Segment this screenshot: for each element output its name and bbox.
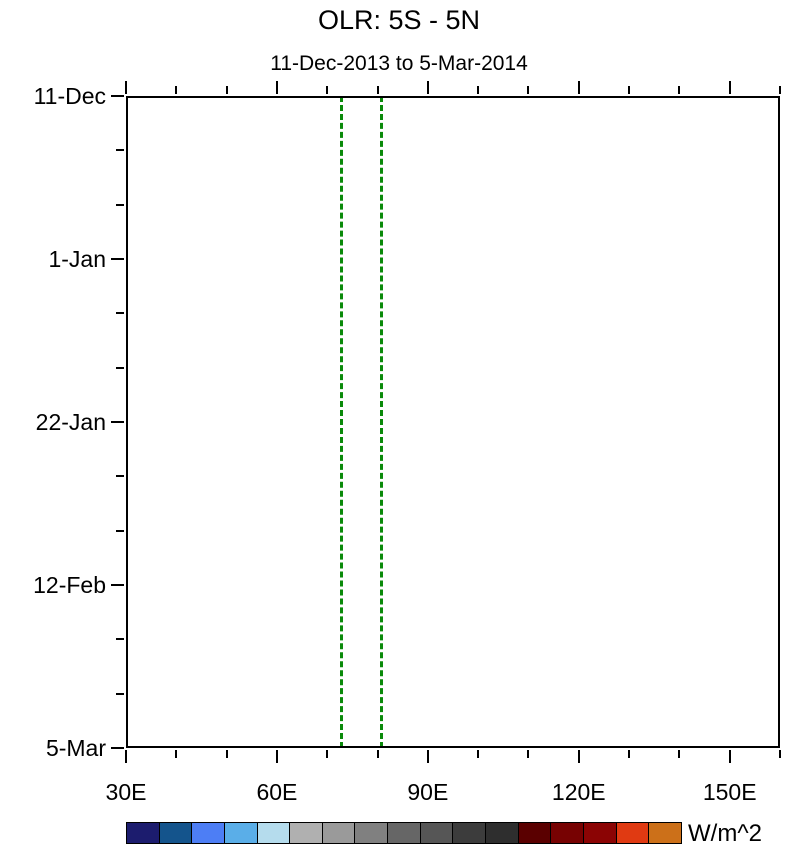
y-tick-14 (116, 204, 124, 206)
colorbar-segment-4 (258, 823, 291, 843)
x-axis-label-90: 90E (407, 778, 448, 806)
colorbar-segment-13 (551, 823, 584, 843)
colorbar-segment-3 (225, 823, 258, 843)
colorbar-segment-2 (192, 823, 225, 843)
colorbar-segment-12 (519, 823, 552, 843)
x-tick-40 (175, 750, 177, 758)
x-tick-top-40 (175, 86, 177, 94)
annotation-vline-2 (380, 96, 383, 748)
x-tick-130 (628, 750, 630, 758)
y-tick-28 (116, 312, 124, 314)
colorbar-segment-15 (617, 823, 650, 843)
x-tick-top-100 (477, 86, 479, 94)
colorbar-segment-14 (584, 823, 617, 843)
x-tick-top-80 (377, 86, 379, 94)
x-tick-140 (678, 750, 680, 758)
colorbar[interactable] (126, 822, 682, 844)
x-tick-70 (326, 750, 328, 758)
x-axis-label-150: 150E (703, 778, 757, 806)
y-axis-label-11-Dec: 11-Dec (0, 82, 106, 110)
colorbar-segment-5 (290, 823, 323, 843)
x-tick-top-30 (125, 81, 127, 94)
y-tick-70 (116, 638, 124, 640)
x-tick-80 (377, 750, 379, 758)
x-tick-top-120 (578, 81, 580, 94)
colorbar-segment-16 (649, 823, 681, 843)
x-tick-60 (276, 750, 278, 763)
x-tick-top-50 (226, 86, 228, 94)
x-tick-top-70 (326, 86, 328, 94)
colorbar-segment-10 (453, 823, 486, 843)
x-tick-30 (125, 750, 127, 763)
colorbar-segment-8 (388, 823, 421, 843)
x-tick-top-60 (276, 81, 278, 94)
y-tick-0 (111, 95, 124, 97)
y-axis-label-12-Feb: 12-Feb (0, 571, 106, 599)
colorbar-segment-6 (323, 823, 356, 843)
plot-area (126, 96, 780, 748)
colorbar-segment-11 (486, 823, 519, 843)
x-axis-label-60: 60E (256, 778, 297, 806)
colorbar-segment-7 (355, 823, 388, 843)
y-tick-42 (111, 421, 124, 423)
colorbar-unit-label: W/m^2 (688, 820, 762, 848)
x-axis-label-30: 30E (106, 778, 147, 806)
y-tick-56 (116, 530, 124, 532)
colorbar-segment-9 (421, 823, 454, 843)
x-axis-label-120: 120E (552, 778, 606, 806)
y-tick-63 (111, 584, 124, 586)
x-tick-top-160 (779, 86, 781, 94)
x-tick-120 (578, 750, 580, 763)
hovmoller-field (126, 96, 780, 748)
x-tick-top-150 (729, 81, 731, 94)
y-tick-21 (111, 258, 124, 260)
page-title: OLR: 5S - 5N (0, 3, 798, 37)
x-tick-160 (779, 750, 781, 758)
x-tick-110 (527, 750, 529, 758)
chart-subtitle: 11-Dec-2013 to 5-Mar-2014 (0, 51, 798, 77)
y-axis-label-5-Mar: 5-Mar (0, 734, 106, 762)
y-axis-label-22-Jan: 22-Jan (0, 408, 106, 436)
annotation-vline-1 (340, 96, 343, 748)
y-tick-84 (111, 747, 124, 749)
y-tick-49 (116, 475, 124, 477)
x-tick-50 (226, 750, 228, 758)
x-tick-150 (729, 750, 731, 763)
x-tick-top-140 (678, 86, 680, 94)
colorbar-segment-1 (160, 823, 193, 843)
y-axis-label-1-Jan: 1-Jan (0, 245, 106, 273)
x-tick-top-110 (527, 86, 529, 94)
y-tick-7 (116, 149, 124, 151)
colorbar-segment-0 (127, 823, 160, 843)
x-tick-90 (427, 750, 429, 763)
x-tick-100 (477, 750, 479, 758)
y-tick-77 (116, 693, 124, 695)
y-tick-35 (116, 367, 124, 369)
chart-root: OLR: 5S - 5N 11-Dec-2013 to 5-Mar-2014 3… (0, 0, 798, 863)
x-tick-top-90 (427, 81, 429, 94)
x-tick-top-130 (628, 86, 630, 94)
